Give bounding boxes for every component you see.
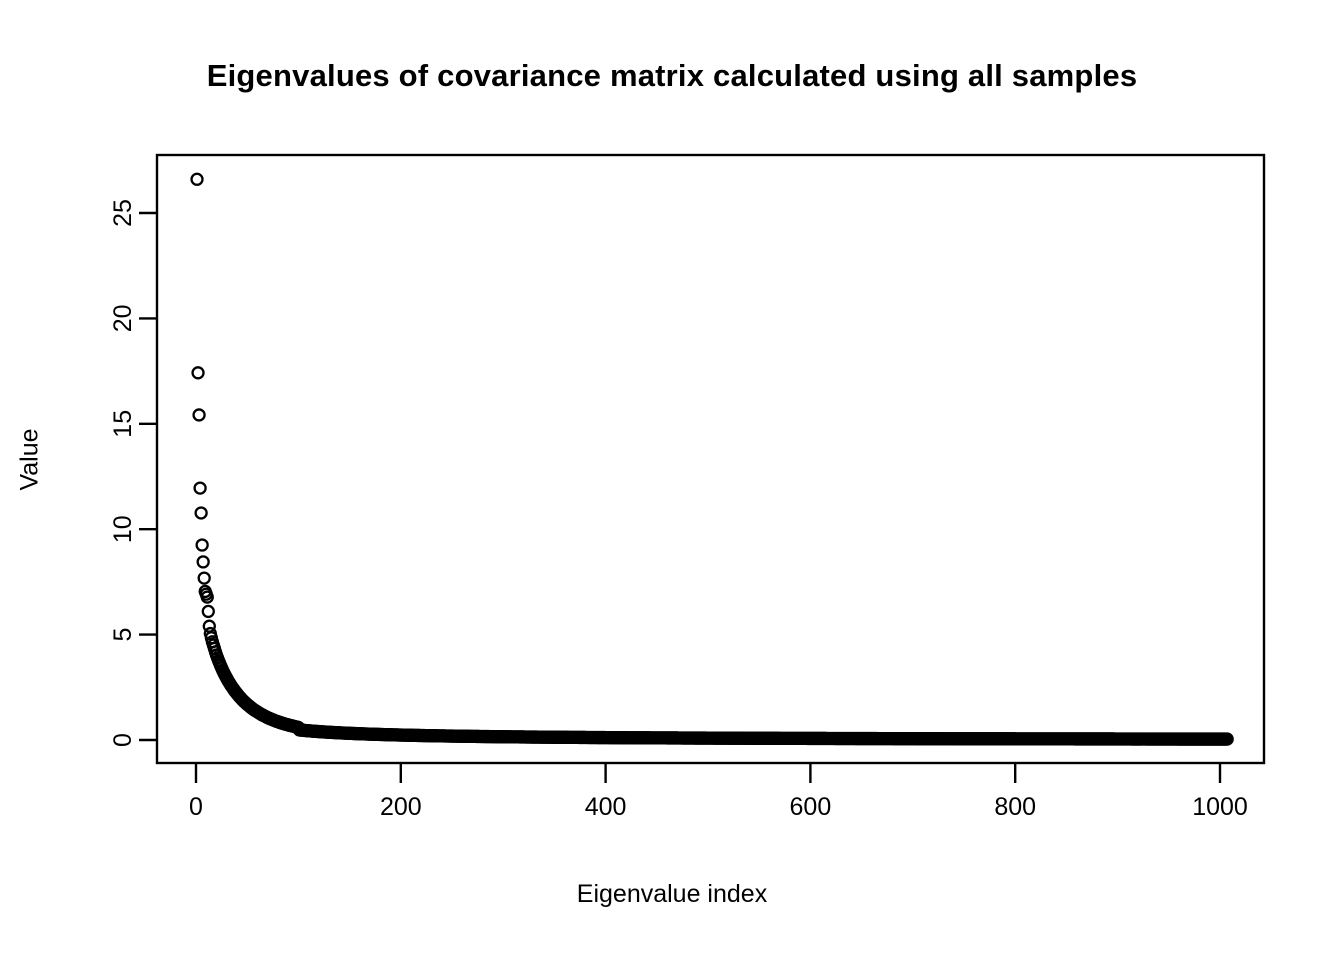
y-axis: 0510152025 [109,199,157,747]
data-point [197,540,208,551]
data-points [192,174,1233,745]
data-point [196,507,207,518]
chart-canvas: Eigenvalues of covariance matrix calcula… [0,0,1344,960]
x-tick-label: 200 [380,793,422,821]
data-point [195,483,206,494]
y-tick-label: 25 [109,199,137,227]
y-tick-label: 0 [109,733,137,747]
x-tick-label: 0 [189,793,203,821]
data-point [192,174,203,185]
scatter-plot: 0510152025 02004006008001000 [0,0,1344,960]
x-tick-label: 800 [994,793,1036,821]
y-axis-label: Value [16,400,45,520]
data-point [198,556,209,567]
x-axis-label: Eigenvalue index [0,880,1344,909]
y-tick-label: 5 [109,628,137,642]
y-tick-label: 10 [109,515,137,543]
data-point [193,367,204,378]
data-point [203,606,214,617]
plot-frame [157,155,1264,763]
y-tick-label: 20 [109,304,137,332]
data-point [194,409,205,420]
y-tick-label: 15 [109,410,137,438]
x-tick-label: 400 [585,793,627,821]
x-tick-label: 1000 [1192,793,1248,821]
data-point [199,573,210,584]
plot-box [157,155,1264,763]
x-tick-label: 600 [790,793,832,821]
x-axis: 02004006008001000 [189,763,1248,821]
